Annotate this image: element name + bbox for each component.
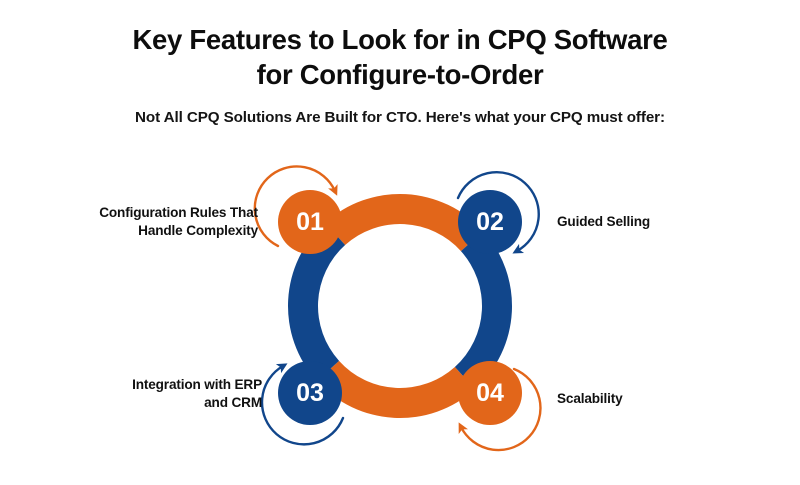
- step-01-number: 01: [296, 208, 324, 236]
- pinwheel-svg: 01 02 03 04: [252, 150, 548, 470]
- step-01-node[interactable]: 01: [255, 166, 342, 254]
- step-03-label-line-2: and CRM: [52, 394, 262, 412]
- pinwheel-graphic: 01 02 03 04: [252, 150, 548, 470]
- infographic-page: Key Features to Look for in CPQ Software…: [0, 0, 800, 485]
- page-title-line-2: for Configure-to-Order: [80, 57, 720, 92]
- page-title: Key Features to Look for in CPQ Software…: [80, 22, 720, 92]
- step-02-label-line-1: Guided Selling: [557, 213, 772, 231]
- pinwheel-diagram: 01 02 03 04: [0, 150, 800, 480]
- step-02-node[interactable]: 02: [458, 172, 539, 254]
- step-02-number: 02: [476, 208, 504, 236]
- step-03-label: Integration with ERP and CRM: [52, 376, 262, 412]
- step-01-label: Configuration Rules That Handle Complexi…: [48, 204, 258, 240]
- step-03-node[interactable]: 03: [262, 361, 343, 444]
- step-01-label-line-1: Configuration Rules That: [48, 204, 258, 222]
- step-04-number: 04: [476, 379, 504, 407]
- step-01-label-line-2: Handle Complexity: [48, 222, 258, 240]
- step-04-node[interactable]: 04: [458, 361, 540, 450]
- page-title-line-1: Key Features to Look for in CPQ Software: [80, 22, 720, 57]
- step-04-label: Scalability: [557, 390, 772, 408]
- step-03-number: 03: [296, 379, 324, 407]
- step-04-label-line-1: Scalability: [557, 390, 772, 408]
- page-subtitle: Not All CPQ Solutions Are Built for CTO.…: [0, 109, 800, 126]
- step-02-label: Guided Selling: [557, 213, 772, 231]
- step-03-label-line-1: Integration with ERP: [52, 376, 262, 394]
- header: Key Features to Look for in CPQ Software…: [0, 22, 800, 126]
